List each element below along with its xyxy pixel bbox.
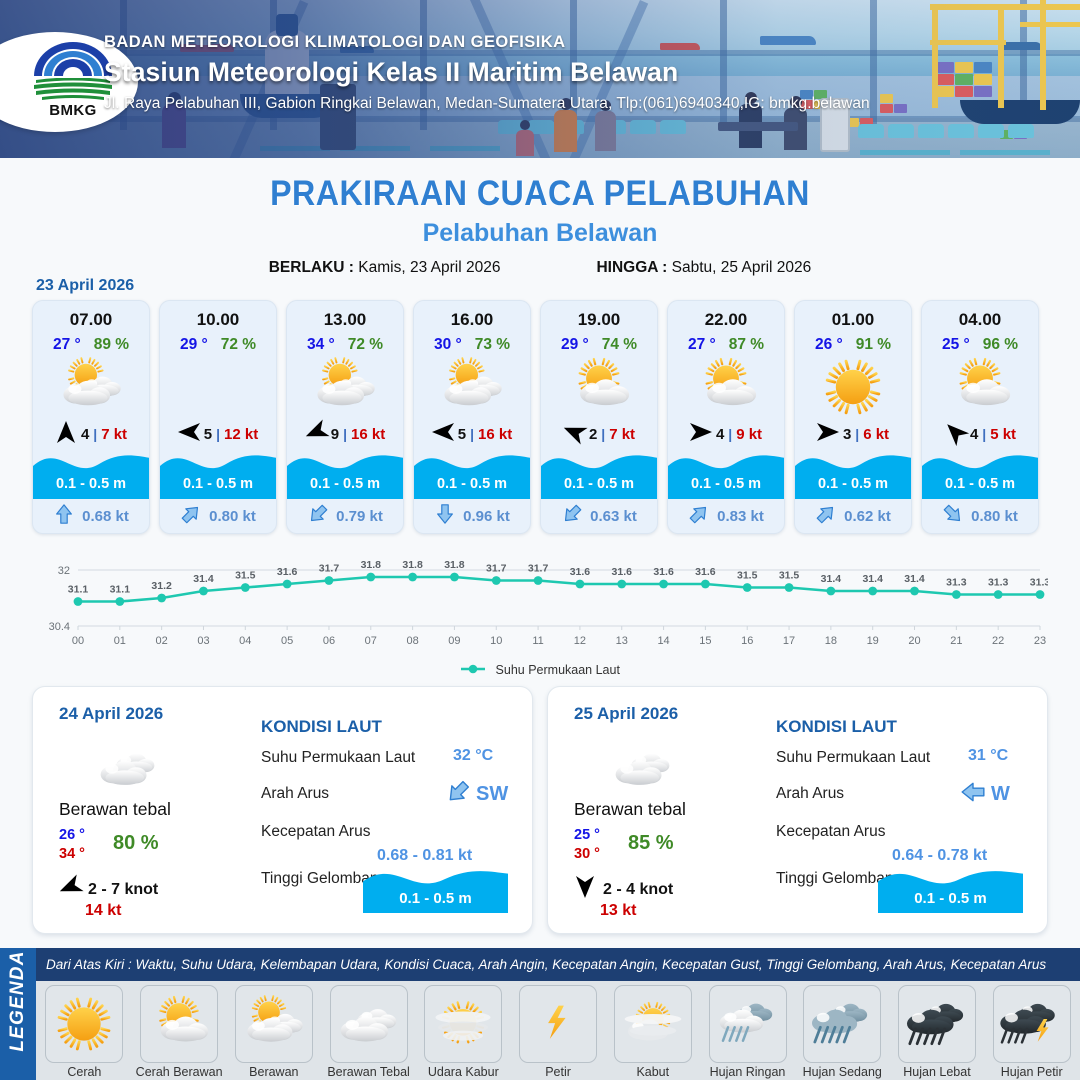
card-wave-height: 0.1 - 0.5 m [795, 476, 911, 492]
legend-sidebar: LEGENDA [0, 948, 36, 1080]
legend-item-label: Hujan Sedang [798, 1065, 887, 1079]
legend-item-label: Hujan Lebat [893, 1065, 982, 1079]
valid-from-value: Kamis, 23 April 2026 [358, 259, 500, 276]
valid-from: BERLAKU : Kamis, 23 April 2026 [269, 259, 501, 277]
forecast-card: 16.00 30 ° 73 % 5 | 16 kt [413, 300, 531, 534]
svg-text:19: 19 [867, 635, 879, 647]
card-wind-speed: 4 [970, 426, 978, 443]
card-temperature: 29 ° [180, 336, 208, 354]
svg-text:20: 20 [908, 635, 920, 647]
svg-text:22: 22 [992, 635, 1004, 647]
card-wave: 0.1 - 0.5 m [922, 449, 1038, 499]
svg-text:31.7: 31.7 [528, 563, 549, 575]
svg-text:21: 21 [950, 635, 962, 647]
forecast-card: 04.00 25 ° 96 % 4 | 5 kt 0.1 - [921, 300, 1039, 534]
panel-temp-min: 26 ° [59, 827, 85, 843]
lightning-icon [519, 985, 597, 1063]
daily-forecast-panel: 24 April 2026 Berawan tebal 26 ° 34 ° 80… [32, 686, 533, 934]
legend-item-label: Kabut [608, 1065, 697, 1079]
panel-row-curdir-value: SW [445, 779, 508, 810]
svg-text:13: 13 [616, 635, 628, 647]
card-current: 0.68 kt [33, 499, 149, 533]
forecast-card: 19.00 29 ° 74 % 2 | 7 kt 0.1 - [540, 300, 658, 534]
panel-wind: 2 - 4 knot [574, 875, 673, 904]
svg-text:31.3: 31.3 [988, 577, 1009, 589]
card-humidity: 73 % [475, 336, 510, 354]
card-time: 01.00 [795, 301, 911, 330]
card-wind-speed: 4 [716, 426, 724, 443]
card-current-speed: 0.79 kt [336, 508, 383, 525]
legend-item: Hujan Lebat [893, 985, 982, 1079]
legend-item: Cerah [40, 985, 129, 1079]
card-gust-speed: 6 kt [863, 426, 889, 443]
card-temperature: 27 ° [688, 336, 716, 354]
card-current-speed: 0.83 kt [717, 508, 764, 525]
svg-text:30.4: 30.4 [49, 621, 70, 633]
card-gust-speed: 16 kt [351, 426, 385, 443]
wind-direction-arrow-icon [574, 875, 596, 904]
svg-text:31.6: 31.6 [653, 566, 674, 578]
wind-direction-arrow-icon [55, 420, 77, 449]
legend-item: Hujan Petir [987, 985, 1076, 1079]
wind-direction-arrow-icon [432, 420, 454, 449]
legend-sidebar-title: LEGENDA [7, 935, 29, 1067]
card-humidity: 91 % [856, 336, 891, 354]
legend-item-label: Berawan [229, 1065, 318, 1079]
card-wave: 0.1 - 0.5 m [541, 449, 657, 499]
card-current: 0.79 kt [287, 499, 403, 533]
current-direction-arrow-icon [307, 503, 329, 530]
thunderstorm-icon [993, 985, 1071, 1063]
card-wave: 0.1 - 0.5 m [795, 449, 911, 499]
svg-text:31.8: 31.8 [444, 559, 465, 571]
card-current-speed: 0.63 kt [590, 508, 637, 525]
svg-text:00: 00 [72, 635, 84, 647]
panel-row-curspd-value: 0.64 - 0.78 kt [892, 847, 987, 865]
valid-until: HINGGA : Sabtu, 25 April 2026 [596, 259, 811, 277]
panel-row-curdir-value: W [960, 779, 1010, 810]
card-gust-speed: 9 kt [736, 426, 762, 443]
panel-row-curdir-label: Arah Arus [776, 785, 844, 803]
card-wave: 0.1 - 0.5 m [287, 449, 403, 499]
svg-text:17: 17 [783, 635, 795, 647]
wind-direction-arrow-icon [690, 420, 712, 449]
forecast-day-label: 23 April 2026 [36, 277, 134, 295]
card-gust-speed: 12 kt [224, 426, 258, 443]
sst-chart: 3230.40001020304050607080910111213141516… [32, 558, 1048, 658]
card-wave: 0.1 - 0.5 m [160, 449, 276, 499]
panel-wave: 0.1 - 0.5 m [878, 865, 1023, 913]
forecast-card: 01.00 26 ° 91 % 3 | 6 kt 0.1 - 0.5 m [794, 300, 912, 534]
svg-text:31.4: 31.4 [821, 573, 842, 585]
svg-text:10: 10 [490, 635, 502, 647]
divider: | [728, 426, 732, 442]
svg-text:07: 07 [365, 635, 377, 647]
panel-temp-max: 34 ° [59, 846, 85, 862]
panel-date: 24 April 2026 [59, 704, 163, 724]
legend-item: Hujan Sedang [798, 985, 887, 1079]
card-temp-humidity: 26 ° 91 % [795, 330, 911, 354]
legend-item: Hujan Ringan [703, 985, 792, 1079]
card-wave: 0.1 - 0.5 m [414, 449, 530, 499]
panel-date: 25 April 2026 [574, 704, 678, 724]
card-temp-humidity: 29 ° 74 % [541, 330, 657, 354]
legend-item-label: Hujan Petir [987, 1065, 1076, 1079]
svg-text:31.3: 31.3 [1030, 577, 1048, 589]
legend-item: Udara Kabur [419, 985, 508, 1079]
svg-text:08: 08 [406, 635, 418, 647]
sun-cloud-icon [541, 356, 657, 418]
svg-text:31.6: 31.6 [695, 566, 716, 578]
panel-curdir-text: W [991, 783, 1010, 806]
card-current-speed: 0.80 kt [971, 508, 1018, 525]
legend-item-label: Cerah Berawan [135, 1065, 224, 1079]
card-current: 0.63 kt [541, 499, 657, 533]
overcast-icon [91, 739, 165, 802]
card-wind: 2 | 7 kt [541, 419, 657, 449]
panel-wind: 2 - 7 knot [59, 875, 158, 904]
current-direction-arrow-icon [445, 779, 471, 810]
card-wind: 3 | 6 kt [795, 419, 911, 449]
panel-sea-title: KONDISI LAUT [261, 717, 382, 737]
svg-text:01: 01 [114, 635, 126, 647]
card-temperature: 30 ° [434, 336, 462, 354]
panel-row-sst-label: Suhu Permukaan Laut [261, 749, 415, 767]
partly-cloudy-icon [235, 985, 313, 1063]
daily-forecast-panels: 24 April 2026 Berawan tebal 26 ° 34 ° 80… [32, 686, 1048, 934]
divider: | [343, 426, 347, 442]
current-direction-arrow-icon [180, 503, 202, 530]
legend-item-label: Hujan Ringan [703, 1065, 792, 1079]
card-temp-humidity: 34 ° 72 % [287, 330, 403, 354]
card-current: 0.80 kt [922, 499, 1038, 533]
station-name: Stasiun Meteorologi Kelas II Maritim Bel… [104, 57, 870, 88]
svg-text:31.7: 31.7 [486, 563, 507, 575]
card-time: 13.00 [287, 301, 403, 330]
card-wind-speed: 9 [331, 426, 339, 443]
valid-until-label: HINGGA : [596, 259, 667, 276]
panel-row-sst-value: 31 °C [968, 747, 1008, 765]
card-wave-height: 0.1 - 0.5 m [33, 476, 149, 492]
divider: | [601, 426, 605, 442]
svg-text:32: 32 [58, 565, 70, 577]
sun-cloud-icon [140, 985, 218, 1063]
divider: | [470, 426, 474, 442]
svg-text:03: 03 [197, 635, 209, 647]
legend-item: Petir [514, 985, 603, 1079]
card-wind: 4 | 9 kt [668, 419, 784, 449]
svg-text:31.5: 31.5 [737, 570, 758, 582]
sun-cloud-icon [922, 356, 1038, 418]
sun-icon [45, 985, 123, 1063]
card-wind: 4 | 5 kt [922, 419, 1038, 449]
svg-text:31.8: 31.8 [361, 559, 382, 571]
card-gust-speed: 7 kt [101, 426, 127, 443]
panel-row-curspd-label: Kecepatan Arus [776, 823, 885, 841]
svg-text:18: 18 [825, 635, 837, 647]
legend-item: Berawan Tebal [324, 985, 413, 1079]
card-current: 0.83 kt [668, 499, 784, 533]
panel-row-curspd-value: 0.68 - 0.81 kt [377, 847, 472, 865]
panel-humidity: 80 % [113, 832, 159, 855]
svg-text:31.4: 31.4 [904, 573, 925, 585]
card-temperature: 26 ° [815, 336, 843, 354]
overcast-icon [606, 739, 680, 802]
panel-wind-range: 2 - 4 knot [603, 881, 673, 899]
card-wind-speed: 2 [589, 426, 597, 443]
card-humidity: 87 % [729, 336, 764, 354]
legend-item-label: Berawan Tebal [324, 1065, 413, 1079]
partly-cloudy-icon [414, 356, 530, 418]
haze-icon [424, 985, 502, 1063]
light-rain-icon [709, 985, 787, 1063]
svg-text:12: 12 [574, 635, 586, 647]
card-temperature: 34 ° [307, 336, 335, 354]
svg-text:31.1: 31.1 [110, 584, 131, 596]
divider: | [982, 426, 986, 442]
wind-direction-arrow-icon [59, 875, 81, 904]
panel-gust: 14 kt [85, 902, 121, 920]
card-temp-humidity: 27 ° 89 % [33, 330, 149, 354]
current-direction-arrow-icon [688, 503, 710, 530]
card-temperature: 29 ° [561, 336, 589, 354]
current-direction-arrow-icon [434, 503, 456, 530]
card-wind: 9 | 16 kt [287, 419, 403, 449]
card-temp-humidity: 29 ° 72 % [160, 330, 276, 354]
page-header: BMKG BADAN METEOROLOGI KLIMATOLOGI DAN G… [0, 0, 1080, 158]
card-current-speed: 0.62 kt [844, 508, 891, 525]
current-direction-arrow-icon [561, 503, 583, 530]
legend-marker-icon [460, 663, 486, 678]
card-wave-height: 0.1 - 0.5 m [160, 476, 276, 492]
card-wave-height: 0.1 - 0.5 m [922, 476, 1038, 492]
wind-direction-arrow-icon [563, 420, 585, 449]
panel-temperatures: 25 ° 30 ° [574, 827, 600, 862]
svg-text:31.4: 31.4 [862, 573, 883, 585]
panel-row-sst-label: Suhu Permukaan Laut [776, 749, 930, 767]
divider: | [216, 426, 220, 442]
card-wind-speed: 4 [81, 426, 89, 443]
divider: | [855, 426, 859, 442]
svg-text:31.6: 31.6 [277, 566, 298, 578]
card-time: 07.00 [33, 301, 149, 330]
wind-direction-arrow-icon [817, 420, 839, 449]
panel-condition: Berawan tebal [59, 799, 171, 820]
moderate-rain-icon [803, 985, 881, 1063]
card-humidity: 72 % [348, 336, 383, 354]
legend-section: LEGENDA Dari Atas Kiri : Waktu, Suhu Uda… [0, 948, 1080, 1080]
svg-text:31.2: 31.2 [151, 580, 172, 592]
card-humidity: 96 % [983, 336, 1018, 354]
wind-direction-arrow-icon [944, 420, 966, 449]
svg-text:02: 02 [156, 635, 168, 647]
panel-wind-range: 2 - 7 knot [88, 881, 158, 899]
hourly-forecast-row: 07.00 27 ° 89 % 4 | 7 kt [32, 300, 1048, 534]
panel-row-curspd-label: Kecepatan Arus [261, 823, 370, 841]
panel-curdir-text: SW [476, 783, 508, 806]
station-address: Jl. Raya Pelabuhan III, Gabion Ringkai B… [104, 95, 870, 113]
panel-temp-max: 30 ° [574, 846, 600, 862]
card-temperature: 27 ° [53, 336, 81, 354]
legend-item: Cerah Berawan [135, 985, 224, 1079]
current-direction-arrow-icon [942, 503, 964, 530]
forecast-card: 07.00 27 ° 89 % 4 | 7 kt [32, 300, 150, 534]
card-current: 0.96 kt [414, 499, 530, 533]
card-current: 0.80 kt [160, 499, 276, 533]
panel-temperatures: 26 ° 34 ° [59, 827, 85, 862]
validity-period: BERLAKU : Kamis, 23 April 2026 HINGGA : … [0, 259, 1080, 277]
card-humidity: 89 % [94, 336, 129, 354]
svg-text:11: 11 [532, 635, 543, 647]
cloudy-icon [160, 356, 276, 418]
svg-text:16: 16 [741, 635, 753, 647]
card-humidity: 74 % [602, 336, 637, 354]
svg-text:15: 15 [699, 635, 711, 647]
card-time: 04.00 [922, 301, 1038, 330]
card-temp-humidity: 27 ° 87 % [668, 330, 784, 354]
card-time: 19.00 [541, 301, 657, 330]
forecast-card: 22.00 27 ° 87 % 4 | 9 kt 0.1 - [667, 300, 785, 534]
panel-wave: 0.1 - 0.5 m [363, 865, 508, 913]
legend-item-label: Petir [514, 1065, 603, 1079]
title-block: PRAKIRAAN CUACA PELABUHAN Pelabuhan Bela… [0, 158, 1080, 277]
overcast-icon [330, 985, 408, 1063]
page-title: PRAKIRAAN CUACA PELABUHAN [43, 174, 1037, 214]
card-current-speed: 0.80 kt [209, 508, 256, 525]
card-wave: 0.1 - 0.5 m [668, 449, 784, 499]
wind-direction-arrow-icon [178, 420, 200, 449]
svg-text:31.5: 31.5 [779, 570, 800, 582]
legend-caption: Dari Atas Kiri : Waktu, Suhu Udara, Kele… [36, 948, 1080, 981]
card-wind: 5 | 16 kt [414, 419, 530, 449]
panel-wave-height: 0.1 - 0.5 m [363, 890, 508, 907]
panel-row-curdir-label: Arah Arus [261, 785, 329, 803]
card-gust-speed: 7 kt [609, 426, 635, 443]
current-direction-arrow-icon [53, 503, 75, 530]
card-current: 0.62 kt [795, 499, 911, 533]
panel-humidity: 85 % [628, 832, 674, 855]
partly-cloudy-icon [33, 356, 149, 418]
legend-item: Berawan [229, 985, 318, 1079]
legend-item-label: Cerah [40, 1065, 129, 1079]
card-time: 22.00 [668, 301, 784, 330]
card-wave: 0.1 - 0.5 m [33, 449, 149, 499]
card-temp-humidity: 25 ° 96 % [922, 330, 1038, 354]
heavy-rain-icon [898, 985, 976, 1063]
svg-text:31.5: 31.5 [235, 570, 256, 582]
chart-legend: Suhu Permukaan Laut [0, 663, 1080, 678]
svg-text:23: 23 [1034, 635, 1046, 647]
card-wind-speed: 5 [458, 426, 466, 443]
valid-from-label: BERLAKU : [269, 259, 354, 276]
svg-text:14: 14 [657, 635, 669, 647]
card-temp-humidity: 30 ° 73 % [414, 330, 530, 354]
svg-text:31.7: 31.7 [319, 563, 340, 575]
panel-condition: Berawan tebal [574, 799, 686, 820]
legend-item: Kabut [608, 985, 697, 1079]
card-wave-height: 0.1 - 0.5 m [287, 476, 403, 492]
card-wind: 4 | 7 kt [33, 419, 149, 449]
card-wave-height: 0.1 - 0.5 m [668, 476, 784, 492]
daily-forecast-panel: 25 April 2026 Berawan tebal 25 ° 30 ° 85… [547, 686, 1048, 934]
svg-text:31.3: 31.3 [946, 577, 967, 589]
svg-text:31.8: 31.8 [402, 559, 423, 571]
svg-text:06: 06 [323, 635, 335, 647]
card-wave-height: 0.1 - 0.5 m [414, 476, 530, 492]
card-time: 10.00 [160, 301, 276, 330]
card-gust-speed: 16 kt [478, 426, 512, 443]
card-current-speed: 0.68 kt [82, 508, 129, 525]
valid-until-value: Sabtu, 25 April 2026 [672, 259, 812, 276]
current-direction-arrow-icon [960, 779, 986, 810]
page-subtitle: Pelabuhan Belawan [0, 219, 1080, 248]
svg-text:31.1: 31.1 [68, 584, 89, 596]
card-temperature: 25 ° [942, 336, 970, 354]
svg-text:31.4: 31.4 [193, 573, 214, 585]
card-wind-speed: 5 [204, 426, 212, 443]
legend-label: Suhu Permukaan Laut [496, 663, 620, 677]
svg-text:05: 05 [281, 635, 293, 647]
forecast-card: 10.00 29 ° 72 % 5 | 12 kt 0.1 - 0.5 m [159, 300, 277, 534]
panel-gust: 13 kt [600, 902, 636, 920]
agency-name: BADAN METEOROLOGI KLIMATOLOGI DAN GEOFIS… [104, 33, 870, 52]
panel-wave-height: 0.1 - 0.5 m [878, 890, 1023, 907]
card-time: 16.00 [414, 301, 530, 330]
panel-row-sst-value: 32 °C [453, 747, 493, 765]
card-current-speed: 0.96 kt [463, 508, 510, 525]
panel-temp-min: 25 ° [574, 827, 600, 843]
fog-icon [614, 985, 692, 1063]
wind-direction-arrow-icon [305, 420, 327, 449]
svg-text:04: 04 [239, 635, 251, 647]
panel-sea-title: KONDISI LAUT [776, 717, 897, 737]
legend-items-row: Cerah Cerah Berawan [40, 985, 1076, 1079]
svg-text:31.6: 31.6 [612, 566, 633, 578]
legend-item-label: Udara Kabur [419, 1065, 508, 1079]
divider: | [93, 426, 97, 442]
sun-icon [795, 356, 911, 418]
card-humidity: 72 % [221, 336, 256, 354]
card-wave-height: 0.1 - 0.5 m [541, 476, 657, 492]
current-direction-arrow-icon [815, 503, 837, 530]
svg-text:09: 09 [448, 635, 460, 647]
card-wind: 5 | 12 kt [160, 419, 276, 449]
partly-cloudy-icon [287, 356, 403, 418]
sun-cloud-icon [668, 356, 784, 418]
svg-text:31.6: 31.6 [570, 566, 591, 578]
forecast-card: 13.00 34 ° 72 % 9 | 16 kt [286, 300, 404, 534]
card-gust-speed: 5 kt [990, 426, 1016, 443]
card-wind-speed: 3 [843, 426, 851, 443]
